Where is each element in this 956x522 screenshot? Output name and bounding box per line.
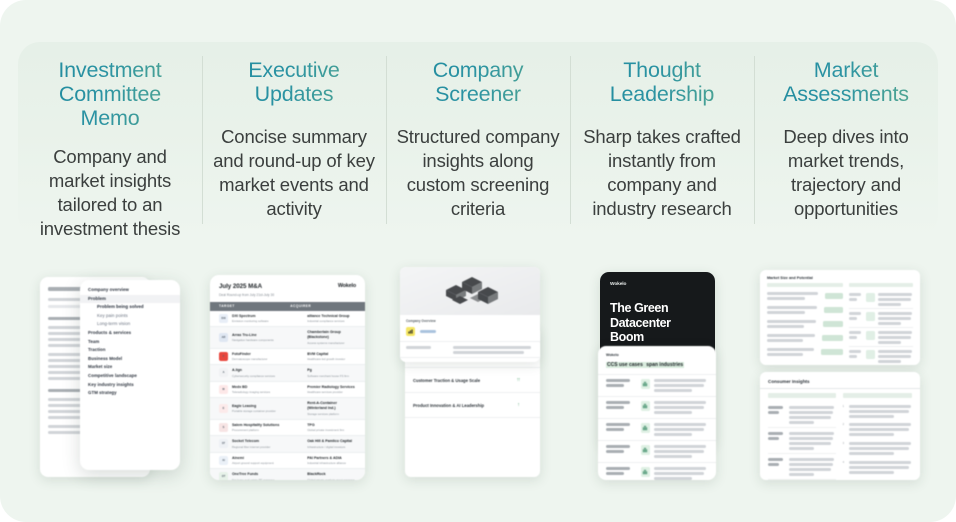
market-bar-row: [767, 332, 843, 344]
competitor-icon: [866, 350, 875, 359]
column-header-target: TARGET: [219, 304, 290, 308]
row-label: [849, 312, 863, 320]
wokelo-logo: Wokelo: [338, 283, 356, 289]
findings-column: 1234 12345: [843, 393, 912, 480]
target-description: Emission monitoring software: [232, 319, 303, 323]
target-cell: A.lignCybersecurity compliance services: [232, 368, 303, 378]
menu-item-problem-being-solved[interactable]: Problem being solved: [80, 303, 180, 312]
acquirer-cell: alliance Technical GroupIndustrial compl…: [307, 314, 356, 324]
menu-item-products-services[interactable]: Products & services: [80, 329, 180, 338]
key-themes-column: [768, 393, 836, 480]
acquirer-name: Oak Hill & Pamlico Capital: [307, 439, 356, 444]
capability-column-thought-leadership: Thought Leadership Sharp takes crafted i…: [570, 42, 754, 238]
target-description: Dermatoscope manufacturer: [232, 357, 303, 361]
company-logo-icon: M: [219, 385, 228, 394]
target-cell: Salem Hospitality SolutionsProcurement p…: [232, 423, 303, 433]
row-value: [654, 423, 708, 436]
company-hero-image: [400, 267, 540, 315]
target-cell: Arras Tru-LineNavigation hardware compon…: [232, 333, 303, 343]
market-bar-row: [767, 290, 843, 302]
market-size-left-column: [767, 283, 843, 365]
market-bar-row: [767, 304, 843, 316]
target-description: Cybersecurity compliance services: [232, 374, 303, 378]
row-text: [878, 312, 913, 325]
row-key: [606, 445, 637, 453]
menu-item-team[interactable]: Team: [80, 338, 180, 347]
acquirer-name: Rent-A-Container (Winterland Ind.): [307, 401, 356, 411]
capability-column-company-screener: Company Screener Structured company insi…: [386, 42, 570, 238]
left-column-header: [767, 283, 843, 287]
company-logo-icon: F: [219, 352, 228, 361]
industry-icon: [641, 379, 650, 389]
acquirer-description: Infrastructure / digital investors: [307, 445, 356, 449]
theme-row: [768, 454, 836, 480]
ma-roundup-preview[interactable]: July 2025 M&A Deal Round-up from July 21…: [210, 275, 365, 480]
row-key: [606, 423, 637, 431]
ma-table-header: TARGET ACQUIRER: [210, 302, 365, 311]
table-row[interactable]: SSalem Hospitality SolutionsProcurement …: [210, 420, 365, 437]
consumer-insights-columns: 1234 12345: [760, 389, 920, 480]
chart-badge-icon: [406, 327, 415, 336]
wokelo-logo: Wokelo: [598, 346, 716, 357]
column-description: Company and market insights tailored to …: [28, 145, 192, 241]
target-name: Socket Telecom: [232, 439, 303, 444]
preview-thumbnails-row: Company overview Problem Problem being s…: [0, 252, 956, 502]
key-themes-header: [768, 393, 836, 398]
slide-rows: [598, 374, 716, 480]
target-name: Arras Tru-Line: [232, 333, 303, 338]
target-name: Eagle Leasing: [232, 404, 303, 409]
acquirer-description: Software merchant house FS firm: [307, 374, 356, 378]
table-row[interactable]: ARArras Tru-LineNavigation hardware comp…: [210, 327, 365, 349]
ma-title: July 2025 M&A: [219, 283, 274, 290]
item-text: [849, 442, 912, 455]
target-description: Teleradiology imaging services: [232, 390, 303, 394]
findings-header-top: [843, 393, 912, 398]
item-text: [849, 461, 912, 474]
field-row: [400, 341, 540, 357]
column-title: Thought Leadership: [580, 58, 744, 110]
competitive-intensity-row: [849, 309, 913, 328]
theme-text: [789, 432, 836, 450]
column-description: Sharp takes crafted instantly from compa…: [580, 125, 744, 221]
company-logo-icon: E: [219, 404, 228, 413]
menu-item-traction[interactable]: Traction: [80, 346, 180, 355]
acquirer-cell: PAI Partners & ADIAIndustrial infrastruc…: [307, 456, 356, 466]
isometric-illustration-icon: [438, 272, 508, 312]
acquirer-cell: TPGGlobal private investment firm: [307, 423, 356, 433]
acquirer-description: Global private investment firm: [307, 428, 356, 432]
acquirer-description: Industrial compliance services: [307, 319, 356, 323]
target-description: Procurement platform: [232, 428, 303, 432]
screener-company-overview[interactable]: Company Overview: [400, 267, 540, 362]
acquirer-name: Chamberlain Group (Blackstone): [307, 330, 356, 340]
acquirer-description: Healthcare services provider: [307, 390, 356, 394]
table-row[interactable]: OTOneTree FundsNet-lease real estate RE …: [210, 469, 365, 480]
ma-subtitle: Deal Round-up from July 21st-July 30: [219, 293, 274, 297]
row-key: [606, 401, 637, 409]
slide-row: [598, 440, 716, 462]
row-key: [606, 379, 637, 387]
target-description: Airport ground support equipment: [232, 461, 303, 465]
competitive-intensity-row: [849, 347, 913, 365]
menu-item-company-overview[interactable]: Company overview: [80, 286, 180, 295]
menu-item-gtm-strategy[interactable]: GTM strategy: [80, 389, 180, 398]
memo-section-menu[interactable]: Company overview Problem Problem being s…: [80, 280, 180, 470]
industry-icon: [641, 467, 650, 477]
acquirer-name: alliance Technical Group: [307, 314, 356, 319]
competitive-intensity-row: [849, 290, 913, 309]
acquirer-cell: Oak Hill & Pamlico CapitalInfrastructure…: [307, 439, 356, 449]
item-number: 2: [843, 423, 847, 436]
target-cell: FotoFinderDermatoscope manufacturer: [232, 352, 303, 362]
menu-item-market-size[interactable]: Market size: [80, 363, 180, 372]
acquirer-name: BVM Capital: [307, 352, 356, 357]
theme-text: [789, 406, 836, 424]
column-description: Structured company insights along custom…: [396, 125, 560, 221]
market-size-title: Market Size and Potential: [760, 270, 920, 283]
acquirer-cell: Rent-A-Container (Winterland Ind.)Storag…: [307, 401, 356, 416]
item-number: 4: [843, 461, 847, 474]
row-label: [849, 331, 863, 339]
item-text: [849, 423, 912, 436]
trend-arrow-icon: ↑↑: [504, 377, 532, 383]
company-logo-icon: AI: [219, 456, 228, 465]
market-size-columns: [760, 283, 920, 365]
right-column-header: [849, 283, 913, 287]
column-title: Investment Committee Memo: [28, 58, 192, 130]
target-name: OneTree Funds: [232, 472, 303, 477]
table-row[interactable]: Customer Traction & Usage Scale ↑↑: [405, 368, 540, 393]
competitive-intensity-row: [849, 328, 913, 347]
slide-row: [598, 374, 716, 396]
target-cell: Socket TelecomRegional fiber internet pr…: [232, 439, 303, 449]
section-label: Company Overview: [400, 315, 540, 325]
industry-icon: [641, 401, 650, 411]
market-size-right-column: [849, 283, 913, 365]
acquirer-name: BlackRock: [307, 472, 356, 477]
page-root: Investment Committee Memo Company and ma…: [0, 0, 956, 522]
table-row[interactable]: AIAinemiAirport ground support equipment…: [210, 453, 365, 470]
target-description: Portable storage container provider: [232, 409, 303, 413]
industry-icon: [641, 423, 650, 433]
wokelo-logo: Wokelo: [600, 272, 715, 287]
finding-item: 2: [843, 421, 912, 440]
slide-title-highlight: span industries: [645, 362, 684, 368]
finding-item: 3: [843, 439, 912, 458]
theme-label: [768, 406, 786, 424]
row-text: [878, 350, 913, 363]
acquirer-name: Pg: [307, 368, 356, 373]
row-value: [654, 401, 708, 414]
trend-arrow-icon: ↑: [504, 402, 532, 408]
acquirer-cell: Chamberlain Group (Blackstone)Access sys…: [307, 330, 356, 345]
target-cell: OneTree FundsNet-lease real estate RE ma…: [232, 472, 303, 480]
menu-item-key-pain-points[interactable]: Key pain points: [80, 312, 180, 321]
column-header-acquirer: ACQUIRER: [290, 304, 311, 308]
acquirer-description: Global private markets asset manager: [307, 478, 356, 480]
theme-label: [768, 432, 786, 450]
slide-row: [598, 462, 716, 480]
target-name: FotoFinder: [232, 352, 303, 357]
table-row[interactable]: DXIDXI SpectrumEmission monitoring softw…: [210, 311, 365, 328]
table-row[interactable]: MMedx BDTeleradiology imaging servicesPr…: [210, 382, 365, 399]
target-cell: DXI SpectrumEmission monitoring software: [232, 314, 303, 324]
table-row[interactable]: EEagle LeasingPortable storage container…: [210, 398, 365, 420]
acquirer-name: TPG: [307, 423, 356, 428]
acquirer-cell: Premier Radiology ServicesHealthcare ser…: [307, 385, 356, 395]
menu-item-competitive-landscape[interactable]: Competitive landscape: [80, 372, 180, 381]
competitor-icon: [866, 331, 875, 340]
column-description: Concise summary and round-up of key mark…: [212, 125, 376, 221]
industry-icon: [641, 445, 650, 455]
market-bar-row: [767, 318, 843, 330]
target-name: Medx BD: [232, 385, 303, 390]
capability-column-investment-committee-memo: Investment Committee Memo Company and ma…: [18, 42, 202, 238]
acquirer-name: Premier Radiology Services: [307, 385, 356, 390]
market-bar: [825, 293, 843, 299]
menu-item-problem[interactable]: Problem: [80, 295, 180, 304]
item-number: 1: [843, 405, 847, 418]
theme-row: [768, 402, 836, 428]
target-name: Salem Hospitality Solutions: [232, 423, 303, 428]
row-value: [654, 445, 708, 458]
consumer-insights-title: Consumer Insights: [760, 372, 920, 389]
market-bar: [822, 335, 843, 341]
slide-title: CCS use cases span industries: [598, 357, 716, 374]
target-name: Ainemi: [232, 456, 303, 461]
company-logo-icon: A: [219, 368, 228, 377]
target-cell: Eagle LeasingPortable storage container …: [232, 404, 303, 414]
competitor-icon: [866, 312, 875, 321]
acquirer-cell: BlackRockGlobal private markets asset ma…: [307, 472, 356, 480]
table-row[interactable]: AA.lignCybersecurity compliance services…: [210, 365, 365, 382]
company-logo-icon: S: [219, 423, 228, 432]
finding-item: 1: [843, 402, 912, 421]
slide-row: [598, 418, 716, 440]
capability-column-market-assessments: Market Assessments Deep dives into marke…: [754, 42, 938, 238]
item-text: [849, 405, 912, 418]
target-description: Net-lease real estate RE manager: [232, 478, 303, 480]
company-logo-icon: OT: [219, 472, 228, 480]
acquirer-cell: BVM CapitalHealthcare-led growth investo…: [307, 352, 356, 362]
acquirer-cell: PgSoftware merchant house FS firm: [307, 368, 356, 378]
column-title: Market Assessments: [764, 58, 928, 110]
table-row[interactable]: FFotoFinderDermatoscope manufacturerBVM …: [210, 349, 365, 366]
row-text: [878, 293, 913, 306]
row-label: [849, 350, 863, 358]
column-title: Company Screener: [396, 58, 560, 110]
target-name: A.lign: [232, 368, 303, 373]
row-label: [849, 293, 863, 301]
column-title: Executive Updates: [212, 58, 376, 110]
capabilities-panel: Investment Committee Memo Company and ma…: [18, 42, 938, 238]
company-logo-icon: DXI: [219, 314, 228, 323]
acquirer-description: Access systems manufacturer: [307, 341, 356, 345]
row-key: [606, 467, 637, 475]
menu-item-business-model[interactable]: Business Model: [80, 355, 180, 364]
finding-item: 4: [843, 458, 912, 477]
table-row[interactable]: STSocket TelecomRegional fiber internet …: [210, 436, 365, 453]
row-text: [878, 331, 913, 344]
menu-item-long-term-vision[interactable]: Long-term vision: [80, 320, 180, 329]
target-description: Regional fiber internet provider: [232, 445, 303, 449]
consumer-insights-preview[interactable]: Consumer Insights 1234 12345: [760, 372, 920, 480]
column-description: Deep dives into market trends, trajector…: [764, 125, 928, 221]
slide-title-plain: CCS use cases: [606, 362, 645, 368]
indicator-label: Customer Traction & Usage Scale: [413, 378, 504, 383]
company-logo-icon: ST: [219, 439, 228, 448]
field-row: [400, 357, 540, 362]
theme-label: [768, 458, 786, 476]
acquirer-description: Healthcare-led growth investor: [307, 357, 356, 361]
thought-leadership-slide[interactable]: Wokelo CCS use cases span industries: [598, 346, 716, 480]
competitor-icon: [866, 293, 875, 302]
market-bar: [821, 349, 843, 355]
market-bar: [824, 307, 843, 313]
cover-title: The Green Datacenter Boom: [600, 287, 715, 345]
target-cell: AinemiAirport ground support equipment: [232, 456, 303, 466]
menu-item-key-industry-insights[interactable]: Key industry insights: [80, 381, 180, 390]
company-logo-icon: AR: [219, 333, 228, 342]
market-size-preview[interactable]: Market Size and Potential: [760, 270, 920, 365]
row-value: [654, 467, 708, 480]
company-badge-row: [400, 325, 540, 341]
theme-row: [768, 428, 836, 454]
market-bar: [823, 321, 843, 327]
ma-table-body: DXIDXI SpectrumEmission monitoring softw…: [210, 311, 365, 480]
indicator-label: Product Innovation & AI Leadership: [413, 403, 504, 408]
target-name: DXI Spectrum: [232, 314, 303, 319]
target-description: Navigation hardware components: [232, 338, 303, 342]
acquirer-description: Industrial infrastructure alliance: [307, 461, 356, 465]
acquirer-name: PAI Partners & ADIA: [307, 456, 356, 461]
capability-column-executive-updates: Executive Updates Concise summary and ro…: [202, 42, 386, 238]
market-bar-row: [767, 346, 843, 358]
row-value: [654, 379, 708, 392]
theme-text: [789, 458, 836, 476]
ma-header: July 2025 M&A Deal Round-up from July 21…: [210, 275, 365, 302]
slide-row: [598, 396, 716, 418]
target-cell: Medx BDTeleradiology imaging services: [232, 385, 303, 395]
table-row[interactable]: Product Innovation & AI Leadership ↑: [405, 393, 540, 418]
item-number: 3: [843, 442, 847, 455]
acquirer-description: Storage services platform: [307, 412, 356, 416]
